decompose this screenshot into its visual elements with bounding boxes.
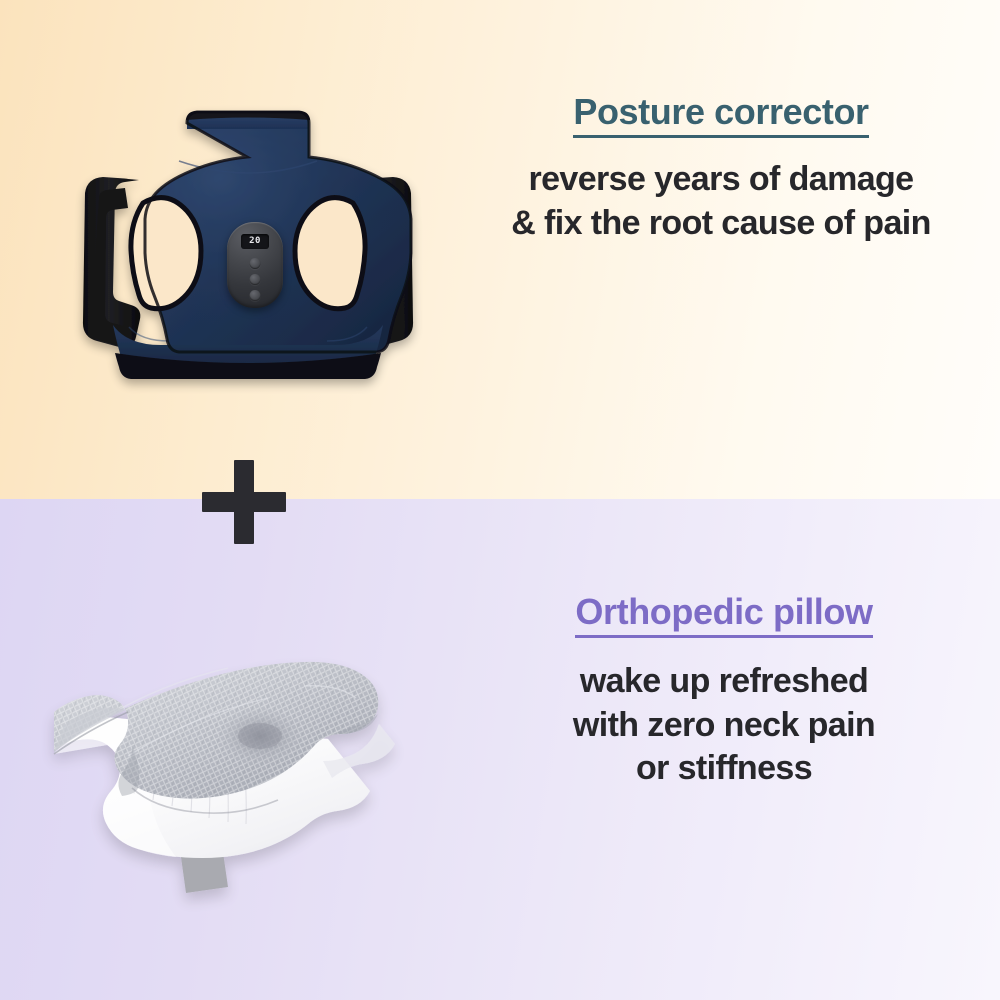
product-bundle-poster: 20 Posture corrector reverse years of da…: [0, 0, 1000, 1000]
module-button-2[interactable]: [250, 274, 261, 285]
posture-corrector-copy: Posture corrector reverse years of damag…: [445, 92, 997, 245]
plus-horizontal-bar: [202, 492, 286, 512]
brace-control-module[interactable]: 20: [227, 222, 283, 308]
module-display: 20: [241, 234, 269, 249]
orthopedic-pillow-copy: Orthopedic pillow wake up refreshed with…: [448, 592, 1000, 791]
body-line: with zero neck pain: [448, 704, 1000, 748]
section-posture-corrector: 20 Posture corrector reverse years of da…: [0, 0, 1000, 499]
body-line: & fix the root cause of pain: [445, 202, 997, 246]
orthopedic-pillow-heading: Orthopedic pillow: [575, 592, 872, 638]
posture-corrector-heading: Posture corrector: [573, 92, 868, 138]
orthopedic-pillow-body: wake up refreshed with zero neck pain or…: [448, 660, 1000, 791]
body-line: or stiffness: [448, 747, 1000, 791]
plus-icon: [202, 460, 286, 544]
orthopedic-pillow-image: [32, 628, 502, 916]
body-line: reverse years of damage: [445, 158, 997, 202]
posture-corrector-body: reverse years of damage & fix the root c…: [445, 158, 997, 245]
module-display-value: 20: [249, 237, 261, 246]
module-button-3[interactable]: [250, 290, 261, 301]
body-line: wake up refreshed: [448, 660, 1000, 704]
module-button-1[interactable]: [250, 258, 261, 269]
